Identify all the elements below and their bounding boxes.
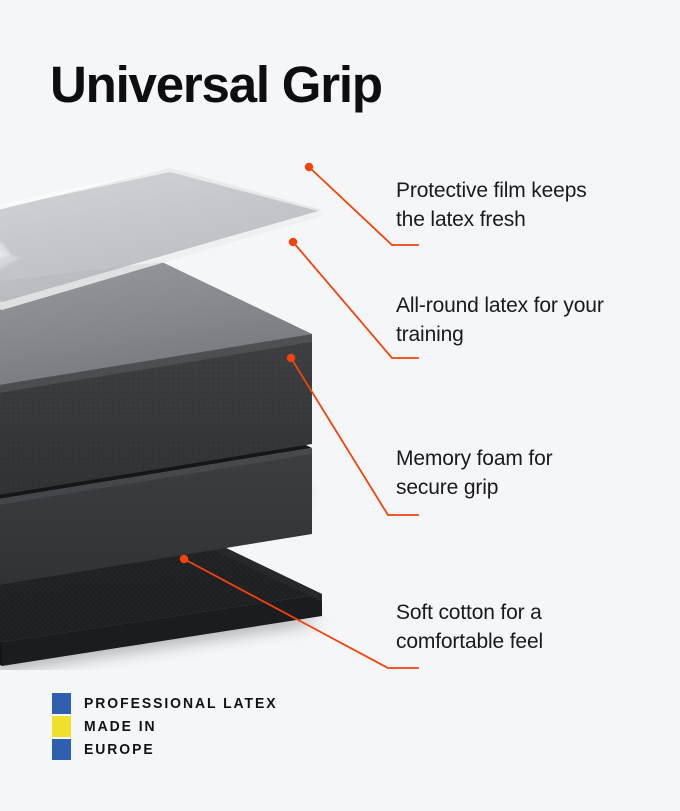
badge-label-professional-latex: PROFESSIONAL LATEX (84, 693, 278, 714)
badge-row: PROFESSIONAL LATEX (52, 692, 292, 715)
badge-swatch-yellow (52, 716, 71, 737)
page-title: Universal Grip (50, 58, 382, 112)
callout-label-memory-foam: Memory foam for secure grip (396, 444, 552, 502)
callout-label-protective-film: Protective film keeps the latex fresh (396, 176, 587, 234)
badge-swatch-blue (52, 693, 71, 714)
badge-row: EUROPE (52, 738, 292, 761)
badge-swatch-blue-2 (52, 739, 71, 760)
product-infographic: Universal Grip (0, 0, 680, 811)
callout-label-soft-cotton: Soft cotton for a comfortable feel (396, 598, 543, 656)
product-illustration (0, 150, 390, 670)
callout-label-all-round-latex: All-round latex for your training (396, 291, 604, 349)
made-in-europe-badge: PROFESSIONAL LATEX MADE IN EUROPE (52, 692, 292, 761)
badge-label-europe: EUROPE (84, 739, 155, 760)
badge-label-made-in: MADE IN (84, 716, 157, 737)
badge-row: MADE IN (52, 715, 292, 738)
